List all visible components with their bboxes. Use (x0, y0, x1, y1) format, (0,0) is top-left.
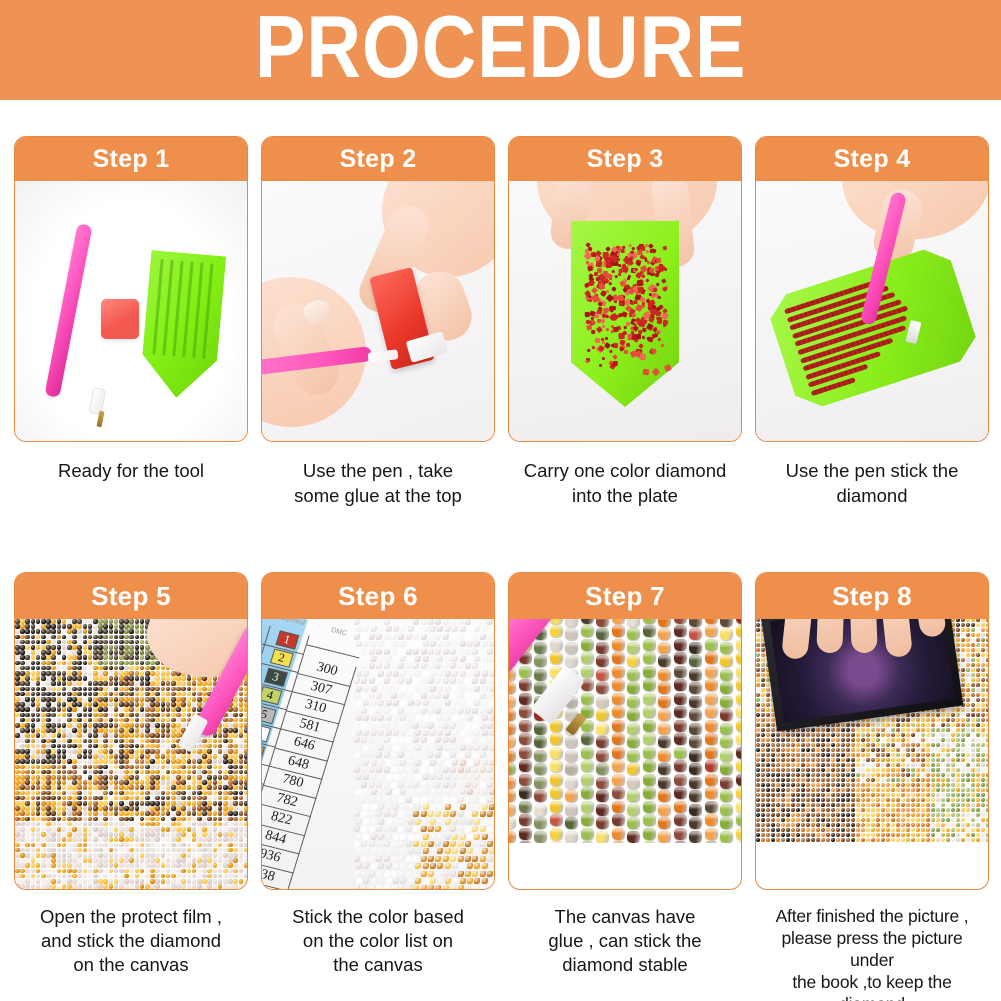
tray-with-diamonds-illustration (509, 181, 741, 441)
procedure-infographic: PROCEDURE Step 1 (0, 0, 1001, 1001)
step-1-header: Step 1 (15, 137, 247, 181)
step-2-header: Step 2 (262, 137, 494, 181)
step-5-photo (15, 619, 247, 889)
step-4-header: Step 4 (756, 137, 988, 181)
step-6-caption: Stick the color based on the color list … (261, 905, 495, 977)
chart-symbol-swatch: 3 (264, 667, 288, 686)
glue-square-icon (101, 299, 139, 339)
step-3-caption: Carry one color diamond into the plate (508, 458, 742, 508)
steps-row-1: Step 1 (14, 136, 987, 508)
color-chart-illustration: SeqSymbolDMC1122300333074431055581666467… (262, 619, 494, 889)
step-6-header: Step 6 (262, 573, 494, 619)
chart-symbol-swatch: 5 (262, 705, 276, 724)
step-2-caption: Use the pen , take some glue at the top (261, 458, 495, 508)
diamond-tray-icon (139, 250, 226, 401)
chart-symbol-swatch: 4 (262, 686, 282, 705)
step-6-card: Step 6 SeqSymbolDMC112230033307443105558… (261, 572, 495, 890)
step-5-header: Step 5 (15, 573, 247, 619)
step-7-caption: The canvas have glue , can stick the dia… (508, 905, 742, 977)
chart-symbol-swatch: 7 (262, 742, 265, 761)
step-7-card: Step 7 (508, 572, 742, 890)
step-card-3: Step 3 Carry one color diamond into the (508, 136, 742, 508)
step-card-1: Step 1 (14, 136, 248, 508)
page-title: PROCEDURE (255, 3, 746, 97)
diamond-tray-icon (571, 221, 679, 407)
step-5-card: Step 5 (14, 572, 248, 890)
step-8-caption: After finished the picture , please pres… (755, 905, 989, 1001)
step-card-7: Step 7 The canvas have glue , can stick … (508, 572, 742, 1001)
step-1-photo (15, 181, 247, 441)
step-7-header: Step 7 (509, 573, 741, 619)
page-title-banner: PROCEDURE (0, 0, 1001, 100)
step-4-photo (756, 181, 988, 441)
step-4-card: Step 4 (755, 136, 989, 442)
step-8-header: Step 8 (756, 573, 988, 619)
step-3-header: Step 3 (509, 137, 741, 181)
step-4-caption: Use the pen stick the diamond (755, 458, 989, 508)
pen-picking-diamond-illustration (756, 181, 988, 441)
step-1-caption: Ready for the tool (14, 458, 248, 483)
tool-kit-illustration (15, 181, 247, 441)
hands-taking-glue-illustration (262, 181, 494, 441)
steps-row-2: Step 5 Open the protect film , and stick… (14, 572, 987, 1001)
step-1-card: Step 1 (14, 136, 248, 442)
step-3-card: Step 3 (508, 136, 742, 442)
step-2-card: Step 2 (261, 136, 495, 442)
step-card-4: Step 4 Use the pen stick t (755, 136, 989, 508)
chart-symbol-swatch: 1 (275, 630, 299, 649)
step-8-card: Step 8 (755, 572, 989, 890)
step-card-2: Step 2 (261, 136, 495, 508)
chart-symbol-swatch: 2 (269, 649, 293, 668)
step-card-5: Step 5 Open the protect film , and stick… (14, 572, 248, 1001)
step-3-photo (509, 181, 741, 441)
step-5-caption: Open the protect film , and stick the di… (14, 905, 248, 977)
step-card-8: Step 8 After finished the picture , plea… (755, 572, 989, 1001)
chart-symbol-swatch: 6 (262, 723, 270, 742)
step-card-6: Step 6 SeqSymbolDMC112230033307443105558… (261, 572, 495, 1001)
step-6-photo: SeqSymbolDMC1122300333074431055581666467… (262, 619, 494, 889)
step-2-photo (262, 181, 494, 441)
